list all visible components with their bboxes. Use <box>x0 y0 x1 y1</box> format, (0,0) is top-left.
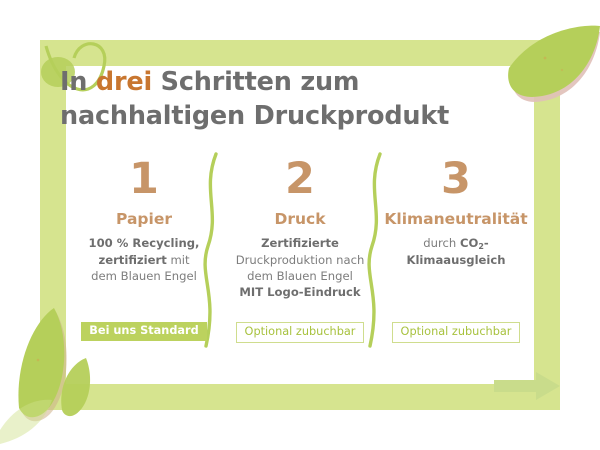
step-heading-2: Druck <box>222 211 378 228</box>
step2-desc-bold-1: Zertifizierte <box>261 236 339 250</box>
title-line2: nachhaltigen Druckprodukt <box>60 101 449 131</box>
step-heading-3: Klimaneutralität <box>378 211 534 228</box>
step1-desc-regular-2: dem Blauen Engel <box>91 269 197 283</box>
step3-desc-bold-3: Klimaausgleich <box>406 253 505 267</box>
step2-desc-regular-2: dem Blauen Engel <box>247 269 353 283</box>
frame-band-bottom <box>40 384 560 410</box>
step-badge-row-2: Optional zubuchbar <box>222 322 378 343</box>
leaf-speck <box>37 359 40 362</box>
step-number-1: 1 <box>66 158 222 201</box>
step-column-1: 1 Papier 100 % Recycling, zertifiziert m… <box>66 152 222 352</box>
step-description-3: durch CO2- Klimaausgleich <box>378 235 534 268</box>
forward-arrow-icon[interactable] <box>494 370 564 402</box>
forward-arrow-container[interactable] <box>494 370 564 402</box>
title-line1-pre: In <box>60 67 96 97</box>
badge-optional-zubuchbar-3[interactable]: Optional zubuchbar <box>392 322 521 343</box>
step-badge-row-1: Bei uns Standard <box>66 322 222 341</box>
step2-desc-bold-2: MIT Logo-Eindruck <box>239 285 360 299</box>
badge-bei-uns-standard[interactable]: Bei uns Standard <box>81 322 206 341</box>
frame-band-top <box>40 40 560 66</box>
page-title: In drei Schritten zum nachhaltigen Druck… <box>60 66 500 133</box>
step-description-2: Zertifizierte Druckproduktion nach dem B… <box>222 235 378 301</box>
leaf-speck <box>561 69 563 71</box>
badge-optional-zubuchbar-2[interactable]: Optional zubuchbar <box>236 322 365 343</box>
infographic-canvas: In drei Schritten zum nachhaltigen Druck… <box>0 0 600 450</box>
step-column-3: 3 Klimaneutralität durch CO2- Klimaausgl… <box>378 152 534 352</box>
step3-desc-subscript: 2 <box>478 242 484 251</box>
step-number-2: 2 <box>222 158 378 201</box>
step-number-3: 3 <box>378 158 534 201</box>
step-column-2: 2 Druck Zertifizierte Druckproduktion na… <box>222 152 378 352</box>
step3-desc-regular-1: durch <box>423 236 460 250</box>
step-description-1: 100 % Recycling, zertifiziert mit dem Bl… <box>66 235 222 284</box>
steps-container: 1 Papier 100 % Recycling, zertifiziert m… <box>66 152 534 352</box>
step1-desc-bold-1: 100 % Recycling, <box>89 236 200 250</box>
frame-band-right <box>534 40 560 410</box>
step3-desc-bold-1: CO <box>460 236 478 250</box>
step-heading-1: Papier <box>66 211 222 228</box>
step-badge-row-3: Optional zubuchbar <box>378 322 534 343</box>
step1-desc-bold-2: zertifiziert <box>98 253 166 267</box>
title-highlight: drei <box>96 67 152 97</box>
step1-desc-regular-1: mit <box>167 253 190 267</box>
step3-desc-bold-2: - <box>484 236 489 250</box>
step2-desc-regular-1: Druckproduktion nach <box>236 253 365 267</box>
title-line1-post: Schritten zum <box>152 67 359 97</box>
